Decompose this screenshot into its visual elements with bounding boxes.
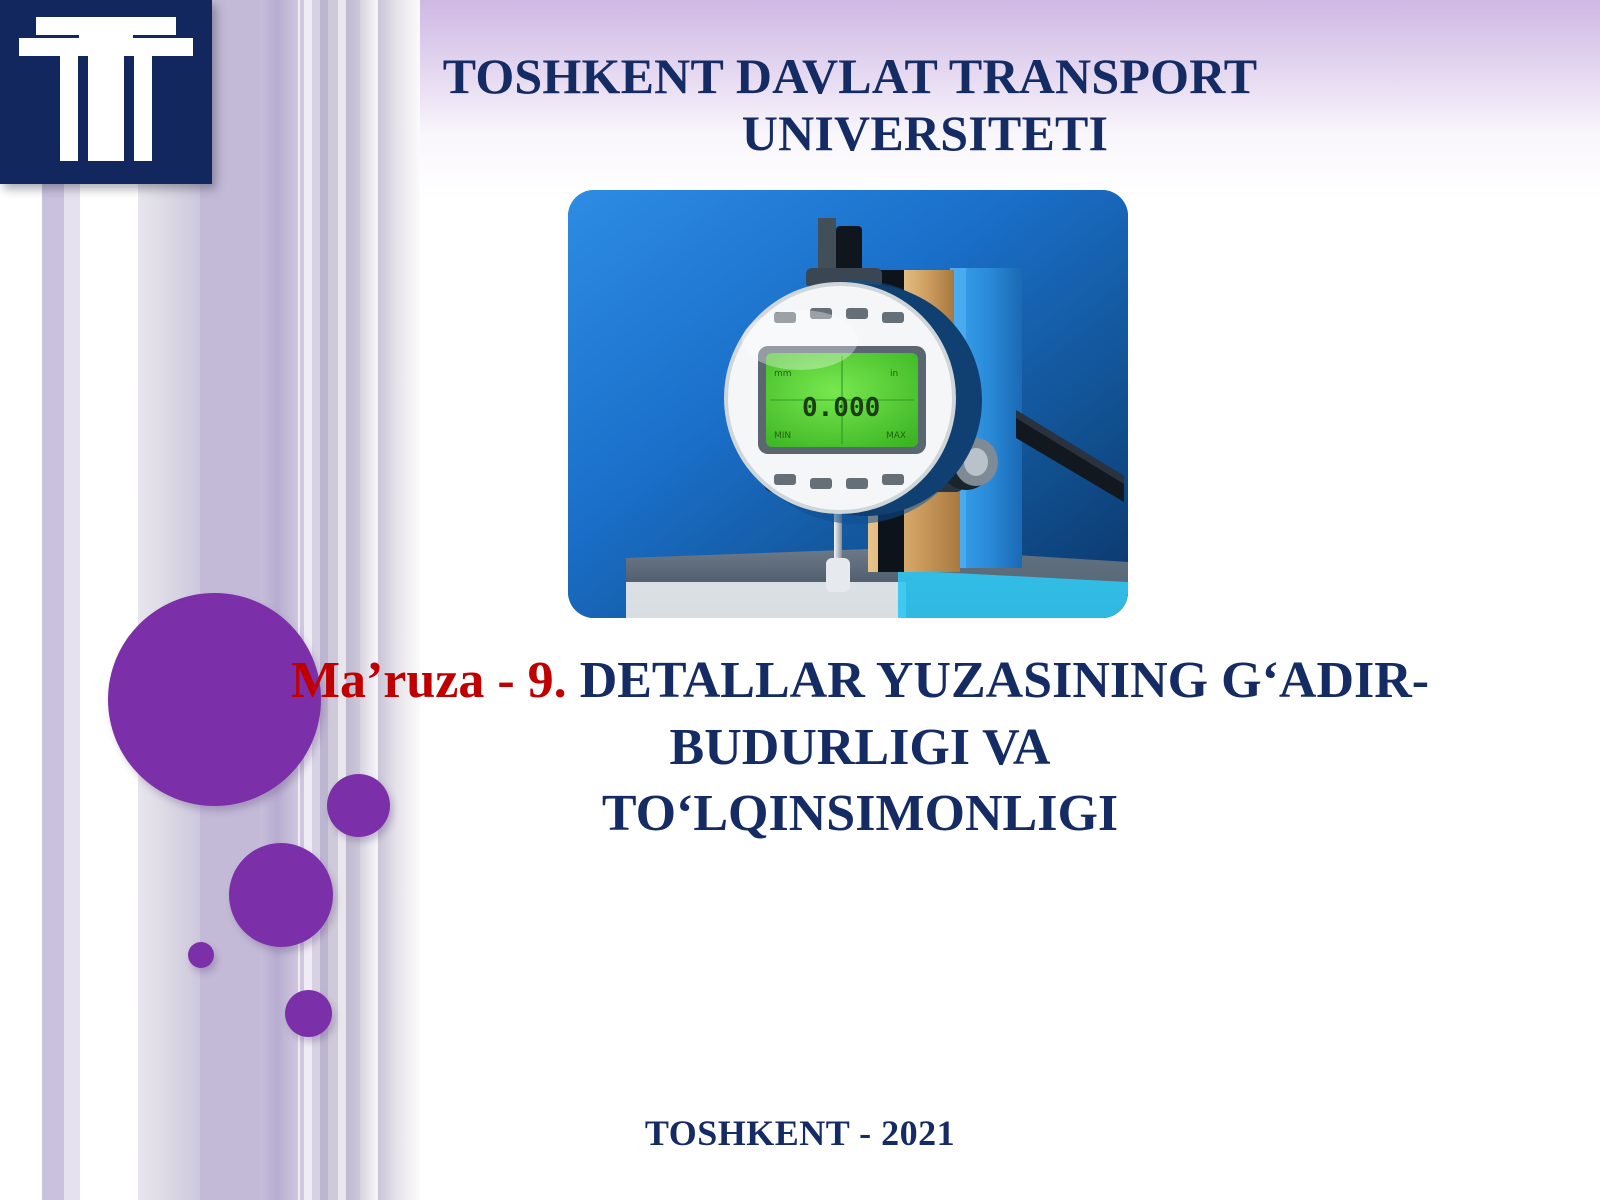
stripe-13 <box>360 0 378 1200</box>
stripe-11 <box>338 0 346 1200</box>
lecture-title-line1: DETALLAR YUZASINING G‘ADIR- <box>567 652 1429 709</box>
bubble-large <box>229 843 333 947</box>
svg-text:in: in <box>890 369 898 379</box>
presentation-slide: TOSHKENT DAVLAT TRANSPORT UNIVERSITETI <box>0 0 1600 1200</box>
svg-text:MIN: MIN <box>774 431 791 441</box>
lecture-title-line2: BUDURLIGI VA <box>670 719 1051 776</box>
footer-place-year: TOSHKENT - 2021 <box>0 1112 1600 1154</box>
lecture-title: Ma’ruza - 9. DETALLAR YUZASINING G‘ADIR-… <box>180 648 1540 848</box>
lecture-title-line3: TO‘LQINSIMONLIGI <box>602 785 1118 842</box>
bubble-small <box>285 990 332 1037</box>
interlocking-t-monogram-icon <box>0 0 212 184</box>
header-title-line1: TOSHKENT DAVLAT TRANSPORT <box>443 48 1258 104</box>
measuring-instrument-photo: 0.000 mm in MIN MAX <box>568 190 1128 618</box>
svg-text:MAX: MAX <box>886 431 906 441</box>
page-title: TOSHKENT DAVLAT TRANSPORT UNIVERSITETI <box>340 48 1360 162</box>
svg-text:0.000: 0.000 <box>802 393 880 423</box>
bubble-extra-small <box>188 942 214 968</box>
university-logo <box>0 0 212 184</box>
stripe-12 <box>346 0 360 1200</box>
dial-indicator-illustration: 0.000 mm in MIN MAX <box>568 190 1128 618</box>
svg-text:mm: mm <box>774 369 792 379</box>
header-title-line2: UNIVERSITETI <box>340 105 1360 162</box>
stripe-14 <box>378 0 396 1200</box>
stripe-15 <box>396 0 420 1200</box>
lecture-number-label: Ma’ruza - 9. <box>291 652 567 709</box>
